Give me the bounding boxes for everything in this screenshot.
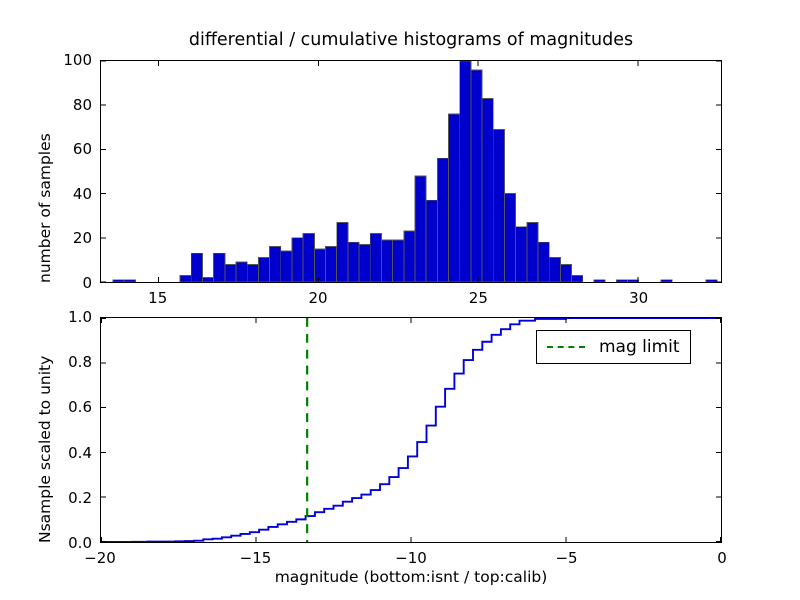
histogram-bar <box>560 264 571 282</box>
histogram-bar <box>594 280 605 282</box>
y-tick-label: 20 <box>42 229 92 247</box>
x-tick-label: 15 <box>128 289 188 307</box>
mag-limit-legend-swatch-icon <box>547 346 585 348</box>
y-tick-label: 40 <box>42 185 92 203</box>
x-tick-label: 20 <box>288 289 348 307</box>
histogram-bar <box>214 253 225 282</box>
x-tick-label: −15 <box>226 549 286 567</box>
x-tick-label: −20 <box>70 549 130 567</box>
histogram-bar <box>281 251 292 282</box>
histogram-bar <box>706 280 717 282</box>
histogram-bar <box>426 200 437 282</box>
histogram-bar <box>337 222 348 282</box>
histogram-bar <box>471 70 482 282</box>
histogram-bar <box>661 280 672 282</box>
x-tick-label: 30 <box>609 289 669 307</box>
histogram-bar <box>124 280 135 282</box>
histogram-bar <box>393 240 404 282</box>
y-tick-label: 100 <box>42 51 92 69</box>
histogram-bar <box>381 240 392 282</box>
histogram-bar <box>326 247 337 282</box>
histogram-bar <box>191 253 202 282</box>
x-tick-label: 25 <box>448 289 508 307</box>
histogram-bar <box>437 158 448 282</box>
y-tick-label: 0.2 <box>42 489 92 507</box>
y-tick-label: 80 <box>42 96 92 114</box>
y-tick-label: 0 <box>42 274 92 292</box>
histogram-bar <box>404 231 415 282</box>
histogram-bar <box>236 262 247 282</box>
histogram-bar <box>493 130 504 282</box>
top-panel-axes <box>100 60 722 283</box>
legend: mag limit <box>536 330 691 364</box>
figure-title: differential / cumulative histograms of … <box>100 30 722 50</box>
histogram-bar <box>449 114 460 282</box>
histogram-bar <box>415 176 426 282</box>
histogram-bar <box>303 233 314 282</box>
histogram-bar <box>482 99 493 282</box>
histogram-bar <box>314 249 325 282</box>
figure-canvas: differential / cumulative histograms of … <box>0 0 800 600</box>
histogram-bar <box>292 238 303 282</box>
histogram-bar <box>247 264 258 282</box>
histogram-bar <box>258 258 269 282</box>
histogram-bar <box>616 280 627 282</box>
y-tick-label: 1.0 <box>42 308 92 326</box>
x-tick-label: −5 <box>537 549 597 567</box>
histogram-plot-area <box>101 61 721 282</box>
histogram-bar <box>359 244 370 282</box>
histogram-bar <box>628 280 639 282</box>
histogram-bar <box>527 222 538 282</box>
y-tick-label: 0.6 <box>42 398 92 416</box>
y-tick-label: 0.4 <box>42 444 92 462</box>
histogram-bar <box>270 247 281 282</box>
histogram-bar <box>225 264 236 282</box>
histogram-bar <box>348 242 359 282</box>
histogram-bar <box>549 258 560 282</box>
mag-limit-legend-label: mag limit <box>599 337 680 357</box>
histogram-bar <box>180 275 191 282</box>
y-tick-label: 0.8 <box>42 353 92 371</box>
histogram-bar <box>113 280 124 282</box>
x-tick-label: −10 <box>381 549 441 567</box>
histogram-bar <box>572 275 583 282</box>
bottom-panel-x-axis-label: magnitude (bottom:isnt / top:calib) <box>100 568 722 586</box>
histogram-bar <box>202 278 213 282</box>
y-tick-label: 60 <box>42 140 92 158</box>
histogram-bar <box>460 61 471 282</box>
histogram-bar <box>516 227 527 282</box>
histogram-bar <box>370 233 381 282</box>
histogram-bar <box>504 194 515 282</box>
histogram-bar <box>538 242 549 282</box>
x-tick-label: 0 <box>692 549 752 567</box>
